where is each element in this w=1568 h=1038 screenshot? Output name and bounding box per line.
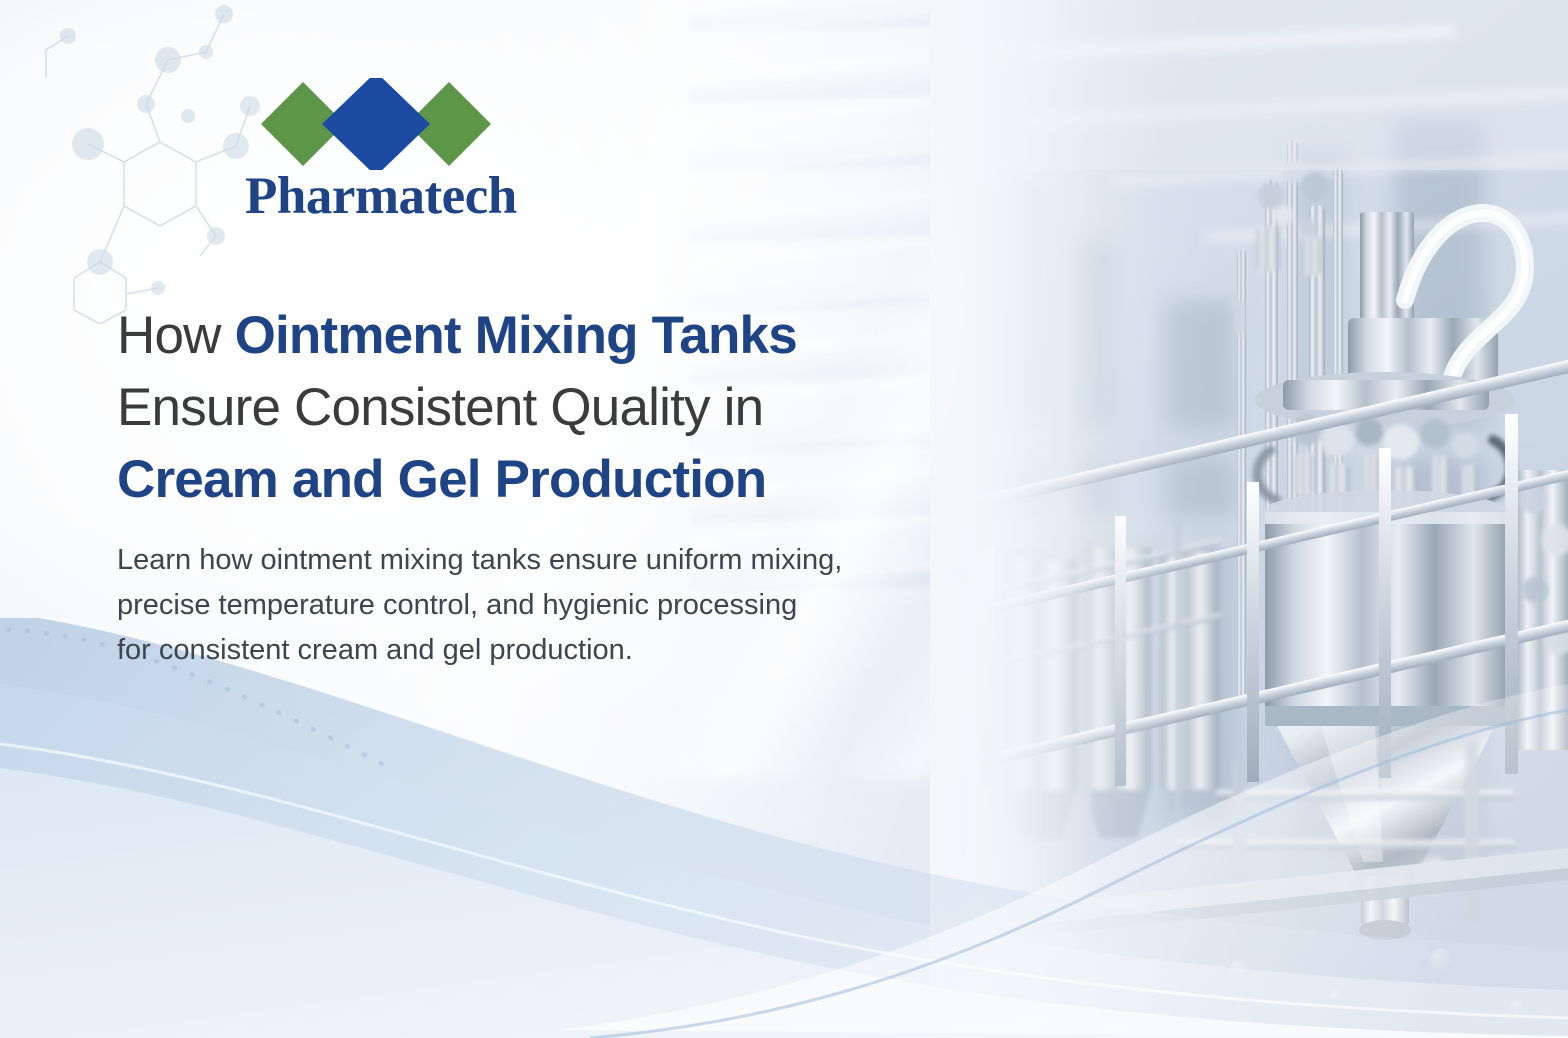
subtitle-line-2: precise temperature control, and hygieni… [117, 583, 987, 628]
headline-line-2: Ensure Consistent Quality in [117, 372, 997, 444]
brand-logo[interactable]: Pharmatech [245, 78, 507, 228]
headline-line-1-accent: Ointment Mixing Tanks [235, 306, 797, 365]
headline-block: How Ointment Mixing Tanks Ensure Consist… [117, 300, 997, 673]
brand-wordmark: Pharmatech [245, 170, 507, 223]
subtitle-line-1: Learn how ointment mixing tanks ensure u… [117, 538, 987, 583]
mixing-tank-photo [965, 0, 1568, 1038]
page-subtitle: Learn how ointment mixing tanks ensure u… [117, 538, 987, 673]
subtitle-line-3: for consistent cream and gel production. [117, 628, 987, 673]
headline-line-3: Cream and Gel Production [117, 444, 997, 516]
page-title: How Ointment Mixing Tanks Ensure Consist… [117, 300, 997, 516]
headline-line-1-plain: How [117, 306, 235, 365]
diamond-chevron-logo-icon [245, 78, 507, 170]
marketing-banner: Pharmatech How Ointment Mixing Tanks Ens… [0, 0, 1568, 1038]
headline-line-1: How Ointment Mixing Tanks [117, 300, 997, 372]
